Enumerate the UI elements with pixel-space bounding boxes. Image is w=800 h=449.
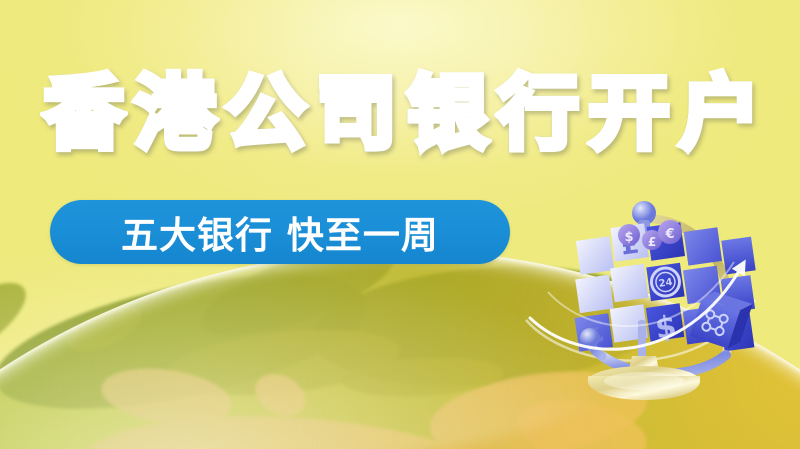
title-char-7: 开: [589, 74, 669, 154]
title-char-2: 港: [135, 74, 215, 154]
stand-base-sheen: [604, 372, 684, 390]
title-char-5: 银: [407, 74, 487, 154]
banner-title: 香 港 公 司 银 行 开 户: [44, 66, 760, 162]
title-char-6: 行: [498, 74, 578, 154]
cube-face-light-1: [576, 236, 614, 274]
cube-face-light-4: [610, 264, 648, 302]
title-char-4: 司: [317, 74, 397, 154]
subtitle-pill[interactable]: 五大银行 快至一周: [50, 200, 510, 264]
coin-pound-label: £: [648, 235, 656, 249]
currency-cube-globe-illustration: £ 24 € $ $ £ €: [520, 170, 770, 410]
coin-euro-label: €: [664, 227, 674, 242]
cube-face-light-3: [575, 275, 613, 313]
svg-text:24: 24: [658, 277, 673, 290]
subtitle-pill-label: 五大银行 快至一周: [121, 205, 439, 259]
title-char-8: 户: [680, 74, 760, 154]
cube-face-mid-1: [684, 227, 722, 265]
title-char-3: 公: [226, 74, 306, 154]
banner-root: 香 港 公 司 银 行 开 户 五大银行 快至一周: [0, 0, 800, 449]
title-char-1: 香: [44, 74, 124, 154]
coin-dollar-label: $: [624, 230, 633, 245]
cube-face-side-1: [721, 237, 755, 275]
